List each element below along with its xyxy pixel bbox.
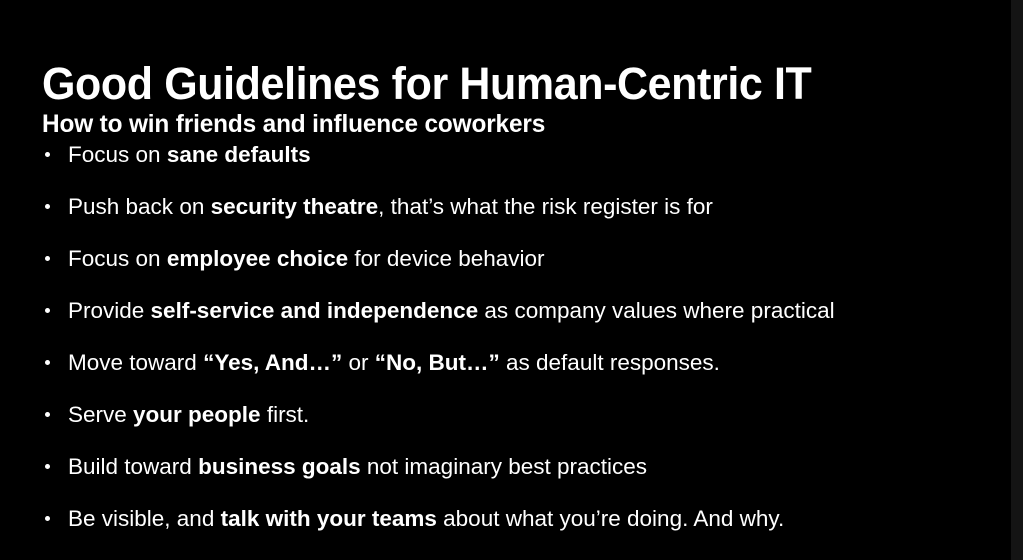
slide-content: Good Guidelines for Human-Centric IT How…: [42, 0, 1011, 560]
body-text: about what you’re doing. And why.: [437, 506, 784, 531]
emphasis-text: “Yes, And…”: [203, 350, 342, 375]
list-item: Be visible, and talk with your teams abo…: [42, 505, 1002, 557]
bullet-dot-icon: [45, 308, 50, 313]
list-item: Focus on employee choice for device beha…: [42, 245, 1002, 297]
list-item-label: Serve your people first.: [68, 402, 309, 427]
emphasis-text: “No, But…”: [375, 350, 500, 375]
list-item-label: Be visible, and talk with your teams abo…: [68, 506, 784, 531]
emphasis-text: self-service and independence: [151, 298, 479, 323]
body-text: or: [342, 350, 375, 375]
bullet-dot-icon: [45, 204, 50, 209]
list-item: Serve your people first.: [42, 401, 1002, 453]
body-text: , that’s what the risk register is for: [378, 194, 713, 219]
list-item: Focus on sane defaults: [42, 141, 1002, 193]
emphasis-text: sane defaults: [167, 142, 311, 167]
list-item: Move toward “Yes, And…” or “No, But…” as…: [42, 349, 1002, 401]
page-title: Good Guidelines for Human-Centric IT: [42, 61, 811, 106]
list-item-label: Build toward business goals not imaginar…: [68, 454, 647, 479]
bullet-dot-icon: [45, 464, 50, 469]
emphasis-text: your people: [133, 402, 261, 427]
guidelines-bullet-list: Focus on sane defaultsPush back on secur…: [42, 141, 1002, 557]
list-item-label: Focus on sane defaults: [68, 142, 311, 167]
body-text: Push back on: [68, 194, 211, 219]
list-item: Provide self-service and independence as…: [42, 297, 1002, 349]
bullet-dot-icon: [45, 412, 50, 417]
list-item-label: Push back on security theatre, that’s wh…: [68, 194, 713, 219]
page-subtitle: How to win friends and influence coworke…: [42, 112, 545, 137]
body-text: for device behavior: [348, 246, 544, 271]
body-text: not imaginary best practices: [361, 454, 647, 479]
body-text: Move toward: [68, 350, 203, 375]
body-text: as company values where practical: [478, 298, 834, 323]
presentation-slide: Good Guidelines for Human-Centric IT How…: [0, 0, 1023, 560]
body-text: Be visible, and: [68, 506, 221, 531]
body-text: Build toward: [68, 454, 198, 479]
list-item-label: Focus on employee choice for device beha…: [68, 246, 545, 271]
emphasis-text: business goals: [198, 454, 361, 479]
list-item: Build toward business goals not imaginar…: [42, 453, 1002, 505]
slide-edge-band: [1011, 0, 1023, 560]
list-item-label: Move toward “Yes, And…” or “No, But…” as…: [68, 350, 720, 375]
body-text: first.: [261, 402, 310, 427]
emphasis-text: security theatre: [211, 194, 379, 219]
bullet-dot-icon: [45, 152, 50, 157]
body-text: Serve: [68, 402, 133, 427]
body-text: Focus on: [68, 246, 167, 271]
bullet-dot-icon: [45, 256, 50, 261]
body-text: Provide: [68, 298, 151, 323]
bullet-dot-icon: [45, 360, 50, 365]
body-text: Focus on: [68, 142, 167, 167]
emphasis-text: talk with your teams: [221, 506, 437, 531]
list-item-label: Provide self-service and independence as…: [68, 298, 835, 323]
bullet-dot-icon: [45, 516, 50, 521]
emphasis-text: employee choice: [167, 246, 348, 271]
body-text: as default responses.: [500, 350, 720, 375]
list-item: Push back on security theatre, that’s wh…: [42, 193, 1002, 245]
